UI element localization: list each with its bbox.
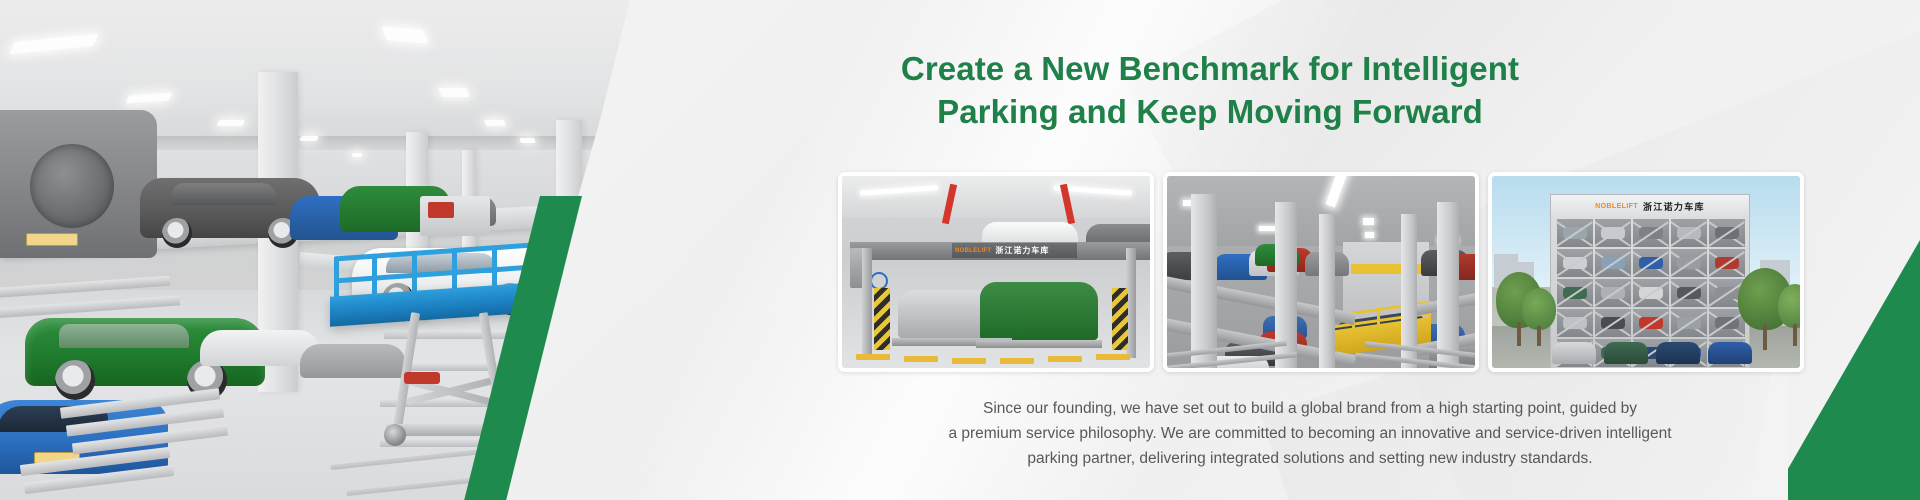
parking-cell [1595, 279, 1631, 307]
ceiling-light-icon [438, 88, 470, 97]
page-title: Create a New Benchmark for Intelligent P… [630, 48, 1790, 134]
concrete-pillar [1191, 194, 1217, 368]
intro-paragraph: Since our founding, we have set out to b… [790, 396, 1830, 471]
ceiling-light-icon [1363, 218, 1374, 225]
parking-cell [1633, 309, 1669, 337]
pallet-base [976, 340, 1102, 348]
parking-cell [1595, 309, 1631, 337]
hydraulic-cylinder [404, 372, 440, 384]
parking-cell [1633, 279, 1669, 307]
wheel-stop [1048, 356, 1082, 362]
ground-level-car [1552, 342, 1596, 364]
tree-trunk [1537, 326, 1541, 346]
wheel-stop [856, 354, 890, 360]
parked-car-silver [300, 344, 406, 378]
parking-cell [1595, 249, 1631, 277]
car-window [59, 324, 189, 348]
car-window [172, 183, 276, 205]
tree-trunk [1793, 324, 1797, 346]
lower-car-green-suv [980, 282, 1098, 340]
wheel-stop [904, 356, 938, 362]
parking-cell [1557, 309, 1593, 337]
parking-cell [1671, 309, 1707, 337]
ground-level-car [1656, 342, 1700, 364]
hazard-stripe [874, 288, 890, 350]
ceiling-light-icon [484, 120, 506, 126]
ceiling-light-icon [352, 153, 362, 157]
paragraph-line-1: Since our founding, we have set out to b… [790, 396, 1830, 421]
parking-cell [1557, 249, 1593, 277]
parking-cell [1671, 219, 1707, 247]
brand-name-cn: 浙江诺力车库 [995, 245, 1049, 256]
garage-ceiling [842, 176, 1150, 218]
parked-car-gray-suv [0, 110, 157, 258]
parking-cell [1671, 249, 1707, 277]
machine-indicator [428, 202, 454, 218]
parking-cell [1633, 249, 1669, 277]
ground-level-car [1604, 342, 1648, 364]
brand-name-en: NOBLELIFT [1595, 203, 1638, 210]
parking-cell [1633, 219, 1669, 247]
hero-banner: Create a New Benchmark for Intelligent P… [0, 0, 1920, 500]
ceiling-light-icon [1365, 232, 1374, 238]
lift-caster-wheel [384, 424, 406, 446]
parking-cell [1709, 249, 1745, 277]
thumbnail-two-tier-parking-lift[interactable]: NOBLELIFT 浙江诺力车库 [838, 172, 1154, 372]
ground-level-car [1708, 342, 1752, 364]
brand-banner: NOBLELIFT 浙江诺力车库 [952, 243, 1077, 258]
parking-machine-unit [420, 196, 490, 236]
tree-icon [1778, 284, 1800, 328]
paragraph-line-3: parking partner, delivering integrated s… [790, 446, 1830, 471]
license-plate [26, 233, 78, 246]
concrete-pillar [1437, 202, 1459, 368]
thumbnail-gallery: NOBLELIFT 浙江诺力车库 [838, 172, 1806, 372]
car-wheel [55, 360, 95, 400]
thumbnail-multilevel-garage[interactable] [1163, 172, 1479, 372]
parking-cell [1557, 219, 1593, 247]
hazard-stripe [1112, 288, 1128, 350]
ceiling-light-icon [519, 138, 536, 143]
concrete-pillar [1319, 214, 1335, 368]
brand-name-cn: 浙江诺力车库 [1643, 200, 1705, 213]
parking-cell [1557, 279, 1593, 307]
spare-tire [30, 144, 114, 228]
paragraph-line-2: a premium service philosophy. We are com… [790, 421, 1830, 446]
lift-post [862, 248, 872, 358]
headline-line-2: Parking and Keep Moving Forward [630, 91, 1790, 134]
parking-cell [1595, 219, 1631, 247]
wheel-stop [1000, 358, 1034, 364]
parking-cell [1709, 219, 1745, 247]
tree-icon [1522, 288, 1556, 330]
car-wheel [162, 218, 192, 248]
thumbnail-tower-parking-garage[interactable]: NOBLELIFT 浙江诺力车库 [1488, 172, 1804, 372]
ceiling-light-icon [217, 120, 246, 126]
wheel-stop [1096, 354, 1130, 360]
brand-name-en: NOBLELIFT [955, 248, 991, 254]
headline-line-1: Create a New Benchmark for Intelligent [630, 48, 1790, 91]
wheel-stop [952, 358, 986, 364]
parking-cell [1671, 279, 1707, 307]
tower-brand-banner: NOBLELIFT 浙江诺力车库 [1551, 195, 1749, 217]
tree-trunk [1517, 322, 1521, 346]
ceiling-light-icon [299, 136, 319, 141]
tree-trunk [1763, 324, 1767, 350]
